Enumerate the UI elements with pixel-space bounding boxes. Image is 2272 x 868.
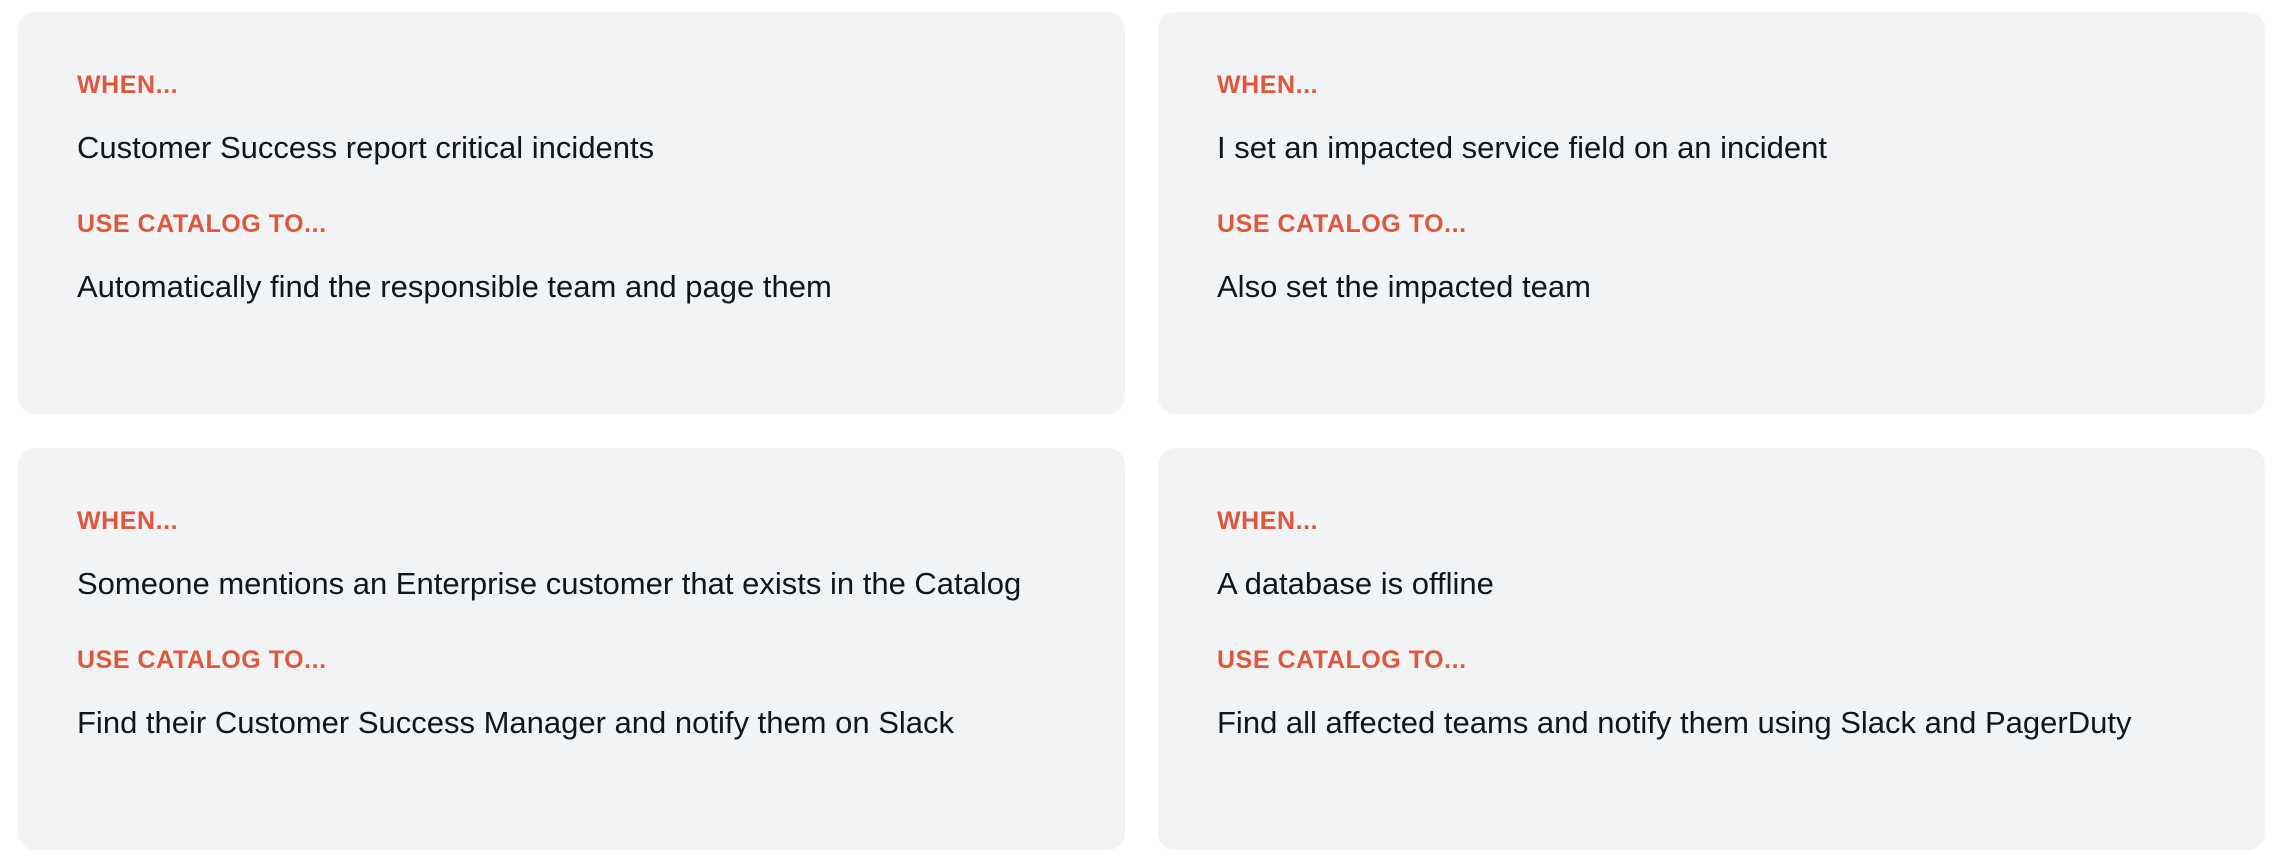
when-label: WHEN... — [1217, 70, 2199, 100]
use-case-card-3: WHEN... Someone mentions an Enterprise c… — [18, 448, 1125, 850]
when-description: I set an impacted service field on an in… — [1217, 127, 2199, 169]
use-catalog-label: USE CATALOG TO... — [1217, 645, 2199, 675]
use-case-card-4: WHEN... A database is offline USE CATALO… — [1158, 448, 2265, 850]
use-catalog-description: Find their Customer Success Manager and … — [77, 702, 1059, 744]
when-label: WHEN... — [77, 506, 1059, 536]
use-catalog-label: USE CATALOG TO... — [77, 645, 1059, 675]
use-case-card-grid: WHEN... Customer Success report critical… — [0, 0, 2272, 868]
when-description: Someone mentions an Enterprise customer … — [77, 563, 1059, 605]
when-description: A database is offline — [1217, 563, 2199, 605]
use-catalog-description: Automatically find the responsible team … — [77, 266, 1059, 308]
when-label: WHEN... — [1217, 506, 2199, 536]
use-case-card-1: WHEN... Customer Success report critical… — [18, 12, 1125, 414]
use-case-card-2: WHEN... I set an impacted service field … — [1158, 12, 2265, 414]
use-catalog-description: Also set the impacted team — [1217, 266, 2199, 308]
use-catalog-label: USE CATALOG TO... — [1217, 209, 2199, 239]
use-catalog-description: Find all affected teams and notify them … — [1217, 702, 2199, 744]
when-description: Customer Success report critical inciden… — [77, 127, 1059, 169]
when-label: WHEN... — [77, 70, 1059, 100]
use-catalog-label: USE CATALOG TO... — [77, 209, 1059, 239]
